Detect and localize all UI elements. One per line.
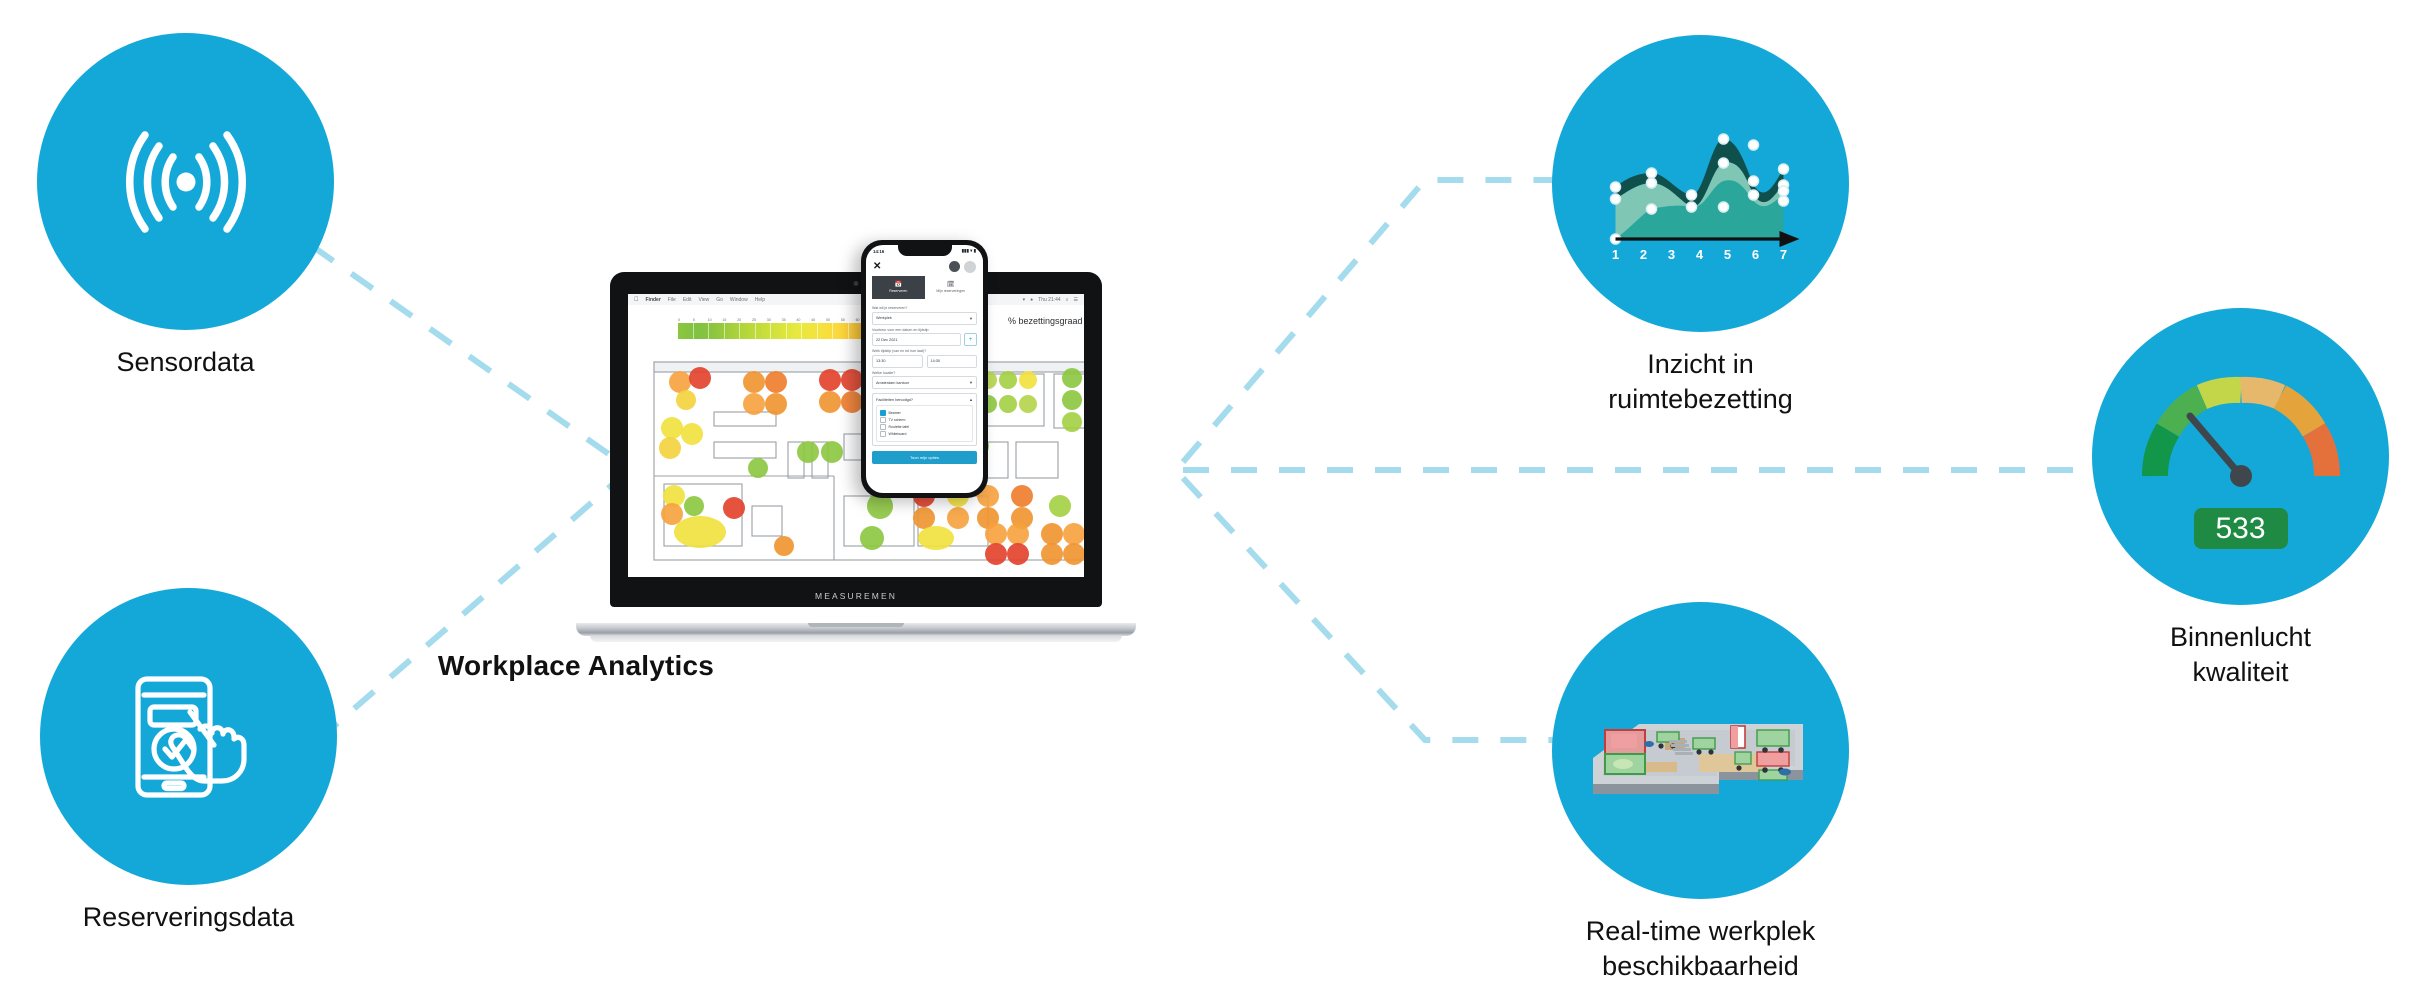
search-icon[interactable]	[949, 261, 960, 272]
gauge-needle	[2190, 416, 2241, 476]
laptop-camera-icon	[854, 281, 859, 286]
reservation-form: Wat wil je reserveren? Werkplek ▼ Voorke…	[866, 299, 983, 446]
chart-x-tick-label: 4	[1695, 247, 1703, 262]
chart-x-tick-labels: 1234567	[1611, 247, 1786, 262]
laptop-mockup:  Finder File Edit View Go Window Help ▾…	[576, 272, 1136, 642]
chart-x-tick-label: 3	[1667, 247, 1674, 262]
node-sensordata[interactable]: Sensordata	[37, 33, 334, 330]
inzicht-label: Inzicht in ruimtebezetting	[1481, 347, 1921, 417]
node-reserveringsdata[interactable]: Reserveringsdata	[40, 588, 337, 885]
heatmap-legend-tick: 55	[841, 318, 856, 322]
gauge-seg-3	[2202, 390, 2241, 397]
heatmap-legend-tick: 50	[826, 318, 841, 322]
phone-tabs: 📅 Reserveren 🗓 Mijn reserveringen	[872, 276, 977, 299]
phone-clock: 14:16	[873, 249, 884, 254]
node-binnenlucht-kwaliteit[interactable]: 533 Binnenlucht kwaliteit	[2092, 308, 2389, 605]
checkbox-icon	[880, 424, 886, 430]
facilities-accordion-label: Faciliteiten benodigd?	[876, 398, 913, 402]
gauge-seg-1	[2154, 430, 2167, 476]
close-icon[interactable]: ✕	[873, 262, 881, 272]
checkbox-roulette-tafel[interactable]: Roulette tafel	[880, 424, 969, 430]
phone-appbar-right	[949, 261, 976, 273]
connector-lines	[0, 0, 2426, 992]
label-welk-tijdstip: Welk tijdstip (van en tot hoe laat)?	[872, 349, 977, 353]
menu-go[interactable]: Go	[716, 297, 723, 303]
gauge-icon	[2136, 368, 2346, 498]
wifi-icon: ▾	[970, 248, 972, 253]
node-inzicht-ruimtebezetting[interactable]: 1234567 Inzicht in ruimtebezetting	[1552, 35, 1849, 332]
checkbox-icon	[880, 431, 886, 437]
binnenlucht-label: Binnenlucht kwaliteit	[2031, 620, 2426, 690]
chevron-up-icon: ▲	[969, 397, 973, 402]
heatmap-legend-tick: 10	[708, 318, 723, 322]
label-wat-reserveren: Wat wil je reserveren?	[872, 306, 977, 310]
phone-notch	[898, 245, 952, 256]
reserveringsdata-circle	[40, 588, 337, 885]
label-welke-locatie: Welke locatie?	[872, 371, 977, 375]
isometric-floorplan-icon	[1581, 676, 1821, 826]
menubar-status-area: ▾ ● Thu 21:44 ⌕ ☰	[1023, 297, 1078, 303]
time-range-row: 13:30 14:30	[872, 355, 977, 368]
time-to-field[interactable]: 14:30	[927, 355, 978, 368]
wifi-icon[interactable]: ▾	[1023, 297, 1026, 303]
heatmap-legend-caption: % bezettingsgraad	[1008, 316, 1083, 326]
select-location[interactable]: Amsterdam kantoor ▼	[872, 376, 977, 389]
laptop-foot	[590, 635, 1122, 642]
gauge-hub	[2230, 465, 2252, 487]
calendar-list-icon: 🗓	[947, 282, 955, 288]
time-from-field[interactable]: 13:30	[872, 355, 923, 368]
phone-app-bar: ✕	[866, 257, 983, 276]
facilities-accordion-head[interactable]: Faciliteiten benodigd? ▲	[876, 397, 973, 402]
phone-status-icons: ▮▮▮ ▾ ▮	[962, 248, 976, 254]
reserveringsdata-label: Reserveringsdata	[0, 900, 419, 935]
chart-x-tick-label: 6	[1751, 247, 1758, 262]
heatmap-legend-tick: 5	[693, 318, 708, 322]
checkbox-beamer-label: Beamer	[889, 411, 901, 415]
inzicht-circle: 1234567	[1552, 35, 1849, 332]
chart-x-tick-label: 2	[1639, 247, 1646, 262]
avatar[interactable]	[964, 261, 976, 273]
sensordata-label: Sensordata	[0, 345, 396, 380]
mobile-tap-check-icon	[114, 667, 264, 807]
chart-x-tick-label: 5	[1723, 247, 1730, 262]
menu-window[interactable]: Window	[730, 297, 748, 303]
connector-hub-to-realtime	[1183, 478, 1560, 740]
laptop-lid:  Finder File Edit View Go Window Help ▾…	[610, 272, 1102, 607]
control-center-icon[interactable]: ☰	[1074, 297, 1078, 303]
binnenlucht-circle: 533	[2092, 308, 2389, 605]
phone-mockup: 14:16 ▮▮▮ ▾ ▮ ✕ 📅	[861, 240, 988, 498]
gauge-seg-6	[2314, 430, 2327, 476]
menu-finder[interactable]: Finder	[646, 297, 661, 303]
realtime-label: Real-time werkplek beschikbaarheid	[1471, 914, 1931, 984]
heatmap-legend-tick: 45	[811, 318, 826, 322]
menu-edit[interactable]: Edit	[683, 297, 692, 303]
realtime-circle	[1552, 602, 1849, 899]
select-location-value: Amsterdam kantoor	[876, 381, 909, 385]
tab-mijn-reserveringen-label: Mijn reserveringen	[936, 289, 965, 293]
chart-x-tick-label: 7	[1779, 247, 1786, 262]
checkbox-whiteboard[interactable]: Whiteboard	[880, 431, 969, 437]
search-icon[interactable]: ⌕	[1066, 297, 1069, 303]
menu-view[interactable]: View	[698, 297, 709, 303]
date-field[interactable]: 22 Dec 2021	[872, 333, 961, 346]
area-chart-icon: 1234567	[1593, 89, 1808, 279]
tab-reserveren-label: Reserveren	[889, 289, 907, 293]
apple-logo-icon: 	[634, 297, 639, 303]
show-options-button[interactable]: Toon mijn opties	[872, 451, 977, 464]
battery-icon[interactable]: ●	[1030, 297, 1033, 303]
chevron-down-icon: ▼	[969, 316, 973, 321]
menu-help[interactable]: Help	[755, 297, 765, 303]
chart-x-tick-label: 1	[1611, 247, 1618, 262]
calendar-icon: 📅	[895, 282, 902, 288]
workplace-analytics-title: Workplace Analytics	[438, 650, 714, 682]
mac-menubar:  Finder File Edit View Go Window Help ▾…	[628, 294, 1084, 305]
heatmap-legend-tick: 35	[782, 318, 797, 322]
heatmap-legend-tick: 40	[796, 318, 811, 322]
tab-mijn-reserveringen[interactable]: 🗓 Mijn reserveringen	[925, 276, 978, 299]
select-resource-type-value: Werkplek	[876, 316, 892, 320]
heatmap-legend-tick: 0	[678, 318, 693, 322]
time-from-value: 13:30	[876, 359, 886, 363]
time-to-value: 14:30	[931, 359, 941, 363]
laptop-screen:  Finder File Edit View Go Window Help ▾…	[628, 294, 1084, 577]
heatmap-legend-tick: 25	[752, 318, 767, 322]
checkbox-whiteboard-label: Whiteboard	[889, 432, 907, 436]
connector-reserveringsdata-to-hub	[318, 478, 620, 740]
node-realtime-werkplek[interactable]: Real-time werkplek beschikbaarheid	[1552, 602, 1849, 899]
heatmap-legend-tick: 30	[767, 318, 782, 322]
clock-label: Thu 21:44	[1038, 297, 1061, 303]
checkbox-beamer[interactable]: Beamer	[880, 410, 969, 416]
select-resource-type[interactable]: Werkplek ▼	[872, 312, 977, 325]
heatmap-legend-tick: 20	[737, 318, 752, 322]
checkbox-icon	[880, 417, 886, 423]
battery-icon: ▮	[974, 248, 976, 253]
label-datum-tijdstip: Voorkeur voor een datum en tijdstip	[872, 328, 977, 332]
checkbox-tv-scherm[interactable]: TV scherm	[880, 417, 969, 423]
facilities-options: Beamer TV scherm Roulette tafel	[876, 405, 973, 442]
connector-hub-to-inzicht	[1183, 180, 1560, 462]
gauge-seg-4	[2241, 390, 2280, 397]
facilities-accordion[interactable]: Faciliteiten benodigd? ▲ Beamer TV scher…	[872, 393, 977, 446]
laptop-brand-label: MEASUREMEN	[610, 591, 1102, 601]
date-field-value: 22 Dec 2021	[876, 338, 898, 342]
phone-screen: 14:16 ▮▮▮ ▾ ▮ ✕ 📅	[866, 245, 983, 493]
checkbox-icon	[880, 410, 886, 416]
diagram-canvas: Sensordata R	[0, 0, 2426, 992]
air-quality-value-badge: 533	[2193, 508, 2287, 549]
wireless-signal-icon	[111, 117, 261, 247]
chevron-down-icon: ▼	[969, 380, 973, 385]
gauge-seg-5	[2280, 397, 2314, 430]
checkbox-tv-scherm-label: TV scherm	[889, 418, 906, 422]
add-date-button[interactable]: +	[964, 333, 977, 346]
checkbox-roulette-tafel-label: Roulette tafel	[889, 425, 910, 429]
tab-reserveren[interactable]: 📅 Reserveren	[872, 276, 925, 299]
sensordata-circle	[37, 33, 334, 330]
heatmap-legend-tick: 15	[722, 318, 737, 322]
signal-icon: ▮▮▮	[962, 248, 969, 253]
menu-file[interactable]: File	[668, 297, 676, 303]
